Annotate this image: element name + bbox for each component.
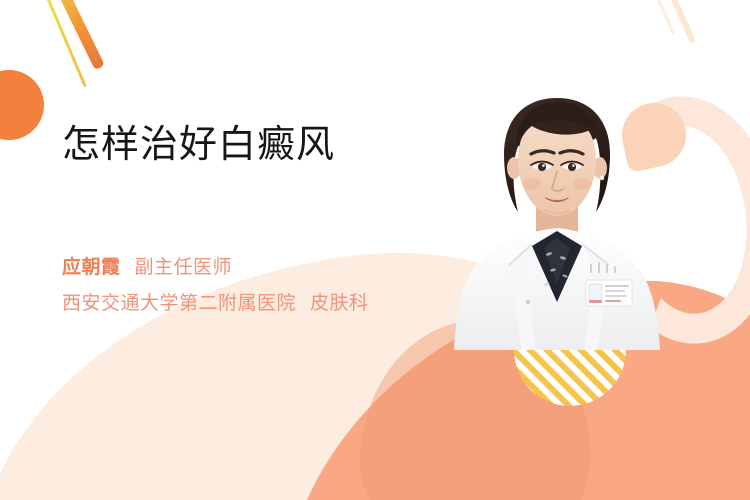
cream-streak-a-icon [663, 0, 696, 44]
orange-circle-decoration [0, 70, 44, 140]
doctor-affiliation: 西安交通大学第二附属医院皮肤科 [62, 288, 369, 315]
page-title: 怎样治好白癜风 [62, 113, 335, 168]
doctor-role: 副主任医师 [135, 257, 233, 278]
doctor-hospital: 西安交通大学第二附属医院 [62, 293, 296, 314]
doctor-name: 应朝霞 [62, 257, 121, 278]
promo-banner: 怎样治好白癜风 应朝霞副主任医师 西安交通大学第二附属医院皮肤科 [0, 0, 750, 500]
diagonal-streak-orange-icon [53, 0, 105, 70]
doctor-name-role: 应朝霞副主任医师 [62, 252, 232, 279]
cream-streak-b-icon [648, 0, 675, 35]
doctor-portrait [452, 88, 662, 350]
doctor-department: 皮肤科 [310, 293, 369, 314]
diagonal-streak-yellow-icon [41, 0, 87, 87]
